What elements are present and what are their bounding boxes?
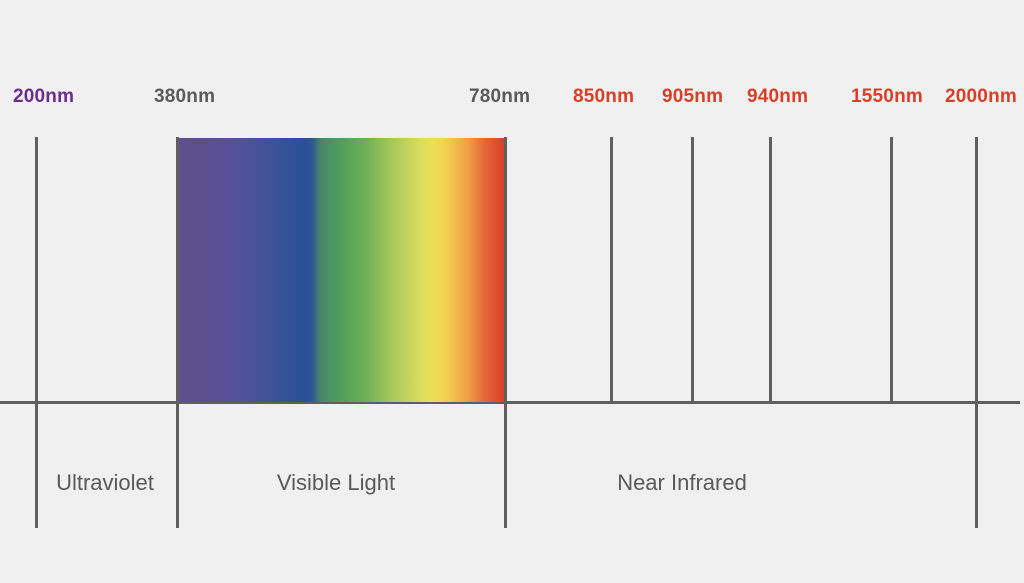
marker-line-850nm [610,137,613,403]
wavelength-label-940nm: 940nm [747,86,808,108]
wavelength-label-380nm: 380nm [154,86,215,108]
horizontal-axis-line [0,401,1020,404]
band-label-ultraviolet: Ultraviolet [0,470,210,496]
marker-line-2000nm [975,137,978,528]
marker-line-940nm [769,137,772,403]
marker-line-905nm [691,137,694,403]
band-label-visible-light: Visible Light [236,470,436,496]
light-spectrum-diagram: 200nm 380nm 780nm 850nm 905nm 940nm 1550… [0,0,1024,583]
marker-line-780nm [504,137,507,528]
marker-line-1550nm [890,137,893,403]
wavelength-label-850nm: 850nm [573,86,634,108]
wavelength-label-905nm: 905nm [662,86,723,108]
wavelength-label-1550nm: 1550nm [851,86,923,108]
band-label-near-infrared: Near Infrared [572,470,792,496]
wavelength-label-780nm: 780nm [469,86,530,108]
wavelength-label-2000nm: 2000nm [945,86,1017,108]
wavelength-label-200nm: 200nm [13,86,74,108]
visible-spectrum-band [176,138,505,402]
